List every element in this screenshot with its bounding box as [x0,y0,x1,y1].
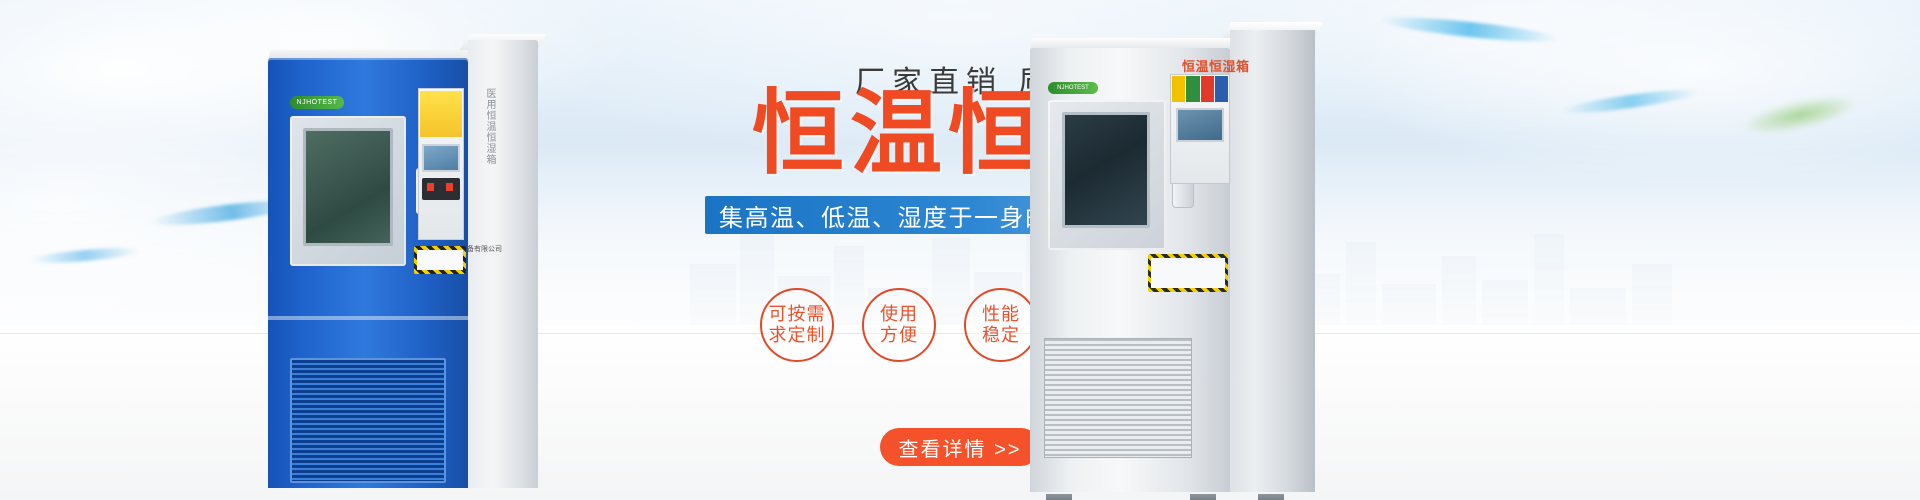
chamber-feet [1040,494,1290,500]
feature-badge-line1: 性能 [982,304,1020,325]
chamber-viewing-window [1062,112,1150,228]
chamber-side-panel [1230,30,1315,492]
hazard-stripe-sticker [1148,254,1228,292]
feature-badge-line2: 稳定 [982,325,1020,346]
promo-banner: NJHOTEST 南京贝帝检测设备有限公司 医用恒温恒湿箱 厂家直销 质量保证 … [0,0,1920,500]
product-image-right-chamber: NJHOTEST 恒温恒湿箱 [1030,16,1315,496]
feature-badge-line2: 求定制 [769,325,826,346]
feature-badge-custom[interactable]: 可按需 求定制 [760,288,834,362]
feature-badge-line2: 方便 [880,325,918,346]
feature-badge-line1: 可按需 [769,304,826,325]
warning-sticker-row [1172,76,1228,104]
chamber-model-title: 恒温恒湿箱 [1182,56,1250,75]
chamber-door [1048,100,1166,250]
feature-badge-stable[interactable]: 性能 稳定 [964,288,1038,362]
chamber-front-body: NJHOTEST [1030,48,1230,492]
chamber-ventilation-grille [1044,338,1192,458]
feature-badge-line1: 使用 [880,304,918,325]
feature-badge-easy-use[interactable]: 使用 方便 [862,288,936,362]
banner-copy-block: 厂家直销 质量保证 恒温恒湿箱 集高温、低温、湿度于一身的综合性环境试验仪器 可… [0,0,1920,500]
view-details-button[interactable]: 查看详情 >> [880,428,1040,466]
controller-display [1176,108,1224,142]
brand-logo-badge: NJHOTEST [1048,82,1098,94]
